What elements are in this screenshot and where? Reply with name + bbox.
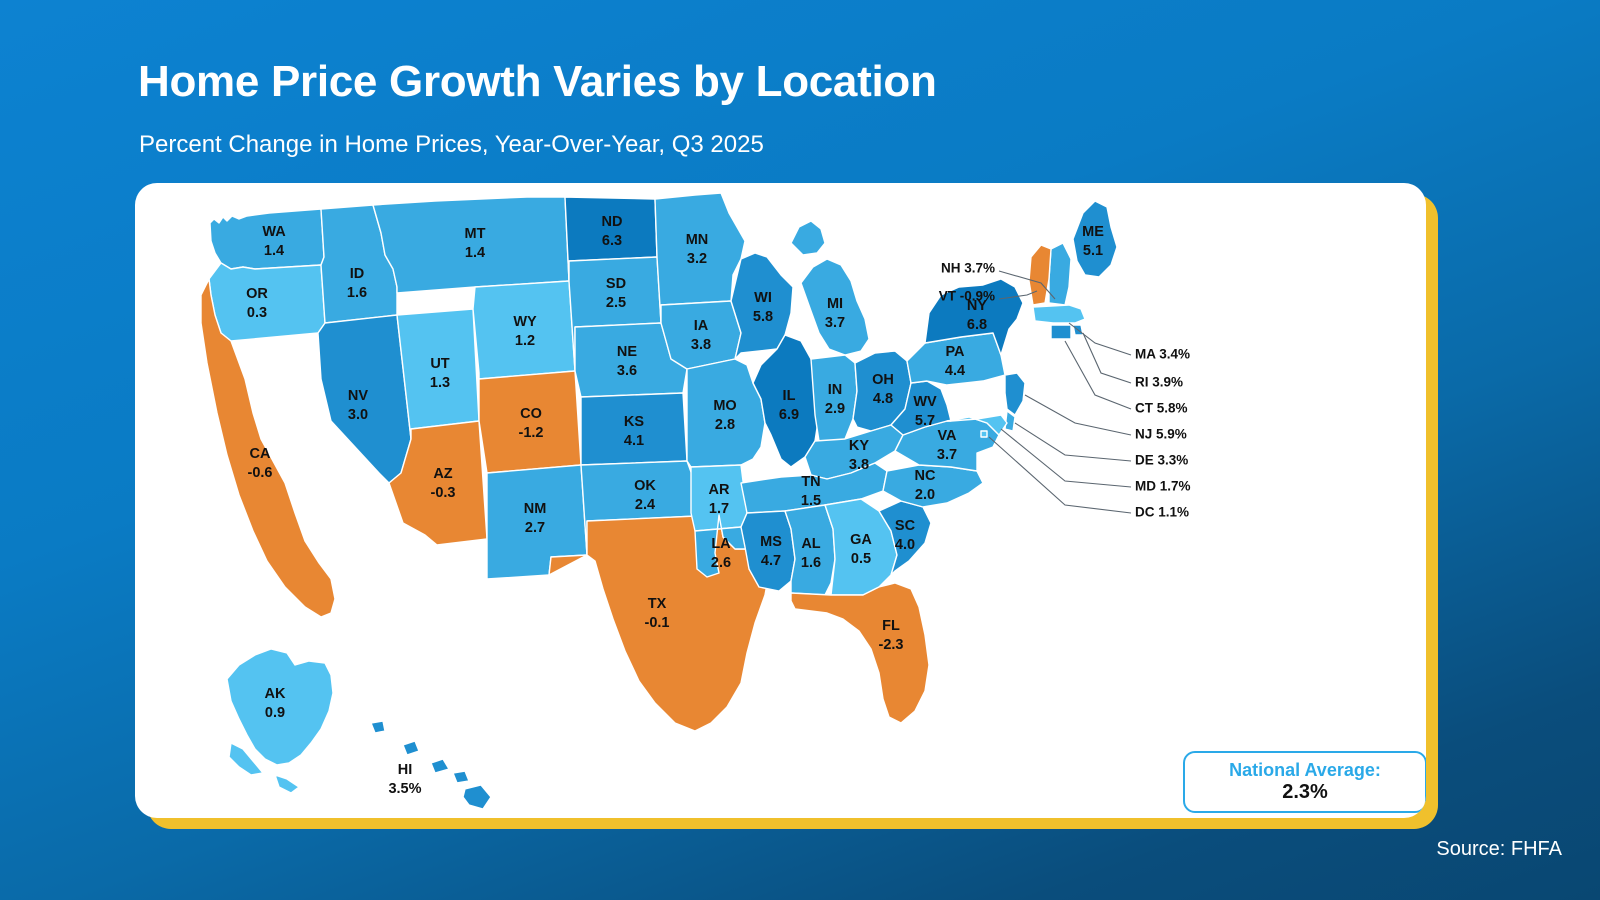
state-value-wy: 1.2	[515, 333, 535, 349]
state-label-pa: PA	[945, 344, 965, 360]
state-label-la: LA	[711, 536, 731, 552]
state-ma[interactable]	[1033, 305, 1085, 323]
state-value-ne: 3.6	[617, 363, 637, 379]
state-label-ks: KS	[624, 414, 644, 430]
state-value-mn: 3.2	[687, 251, 707, 267]
state-label-ak: AK	[265, 686, 286, 702]
state-mi[interactable]	[791, 221, 869, 355]
leader-line-md	[1001, 429, 1131, 487]
state-value-hi: 3.5%	[388, 781, 421, 797]
callout-label-md: MD 1.7%	[1135, 479, 1191, 494]
state-value-fl: -2.3	[879, 637, 904, 653]
us-map-svg[interactable]: WA1.4OR0.3CA-0.6ID1.6NV3.0UT1.3AZ-0.3MT1…	[135, 183, 1426, 818]
callout-label-dc: DC 1.1%	[1135, 505, 1189, 520]
state-value-la: 2.6	[711, 555, 731, 571]
state-vt[interactable]	[1029, 245, 1051, 305]
state-value-ms: 4.7	[761, 553, 781, 569]
state-value-mt: 1.4	[465, 245, 485, 261]
state-value-al: 1.6	[801, 555, 821, 571]
state-wy[interactable]	[473, 281, 575, 379]
state-value-ny: 6.8	[967, 317, 987, 333]
page-title: Home Price Growth Varies by Location	[138, 57, 937, 107]
callout-label-de: DE 3.3%	[1135, 453, 1188, 468]
state-label-ky: KY	[849, 438, 869, 454]
callout-label-nh: NH 3.7%	[941, 261, 995, 276]
state-label-az: AZ	[433, 466, 452, 482]
national-average-value: 2.3%	[1282, 781, 1328, 804]
state-label-fl: FL	[882, 618, 900, 634]
state-value-co: -1.2	[519, 425, 544, 441]
state-nj[interactable]	[1005, 373, 1025, 415]
state-value-nv: 3.0	[348, 407, 368, 423]
state-shapes-group	[201, 193, 1117, 809]
leader-line-ri	[1083, 333, 1131, 383]
state-value-az: -0.3	[431, 485, 456, 501]
state-value-mi: 3.7	[825, 315, 845, 331]
state-label-ia: IA	[694, 318, 709, 334]
callout-label-nj: NJ 5.9%	[1135, 427, 1187, 442]
state-label-mt: MT	[465, 226, 486, 242]
state-label-ne: NE	[617, 344, 637, 360]
state-value-ga: 0.5	[851, 551, 871, 567]
state-label-mi: MI	[827, 296, 843, 312]
state-value-ok: 2.4	[635, 497, 655, 513]
state-label-sc: SC	[895, 518, 916, 534]
state-label-ms: MS	[760, 534, 782, 550]
leader-line-de	[1015, 423, 1131, 461]
callout-label-ma: MA 3.4%	[1135, 347, 1190, 362]
state-label-nv: NV	[348, 388, 368, 404]
state-label-nm: NM	[524, 501, 547, 517]
state-label-wi: WI	[754, 290, 772, 306]
state-value-va: 3.7	[937, 447, 957, 463]
state-label-nc: NC	[915, 468, 936, 484]
state-label-ca: CA	[250, 446, 271, 462]
state-value-nm: 2.7	[525, 520, 545, 536]
callout-label-ri: RI 3.9%	[1135, 375, 1183, 390]
state-value-me: 5.1	[1083, 243, 1103, 259]
state-value-il: 6.9	[779, 407, 799, 423]
state-label-ok: OK	[634, 478, 656, 494]
state-value-id: 1.6	[347, 285, 367, 301]
state-ct[interactable]	[1051, 325, 1071, 339]
state-label-or: OR	[246, 286, 268, 302]
leader-line-nj	[1025, 395, 1131, 435]
state-value-pa: 4.4	[945, 363, 965, 379]
state-value-nc: 2.0	[915, 487, 935, 503]
state-label-il: IL	[783, 388, 796, 404]
state-label-mo: MO	[713, 398, 736, 414]
state-label-oh: OH	[872, 372, 894, 388]
state-label-tn: TN	[801, 474, 820, 490]
source-attribution: Source: FHFA	[1436, 838, 1562, 861]
state-value-tn: 1.5	[801, 493, 821, 509]
state-label-co: CO	[520, 406, 542, 422]
state-label-ar: AR	[709, 482, 730, 498]
map-card: WA1.4OR0.3CA-0.6ID1.6NV3.0UT1.3AZ-0.3MT1…	[135, 183, 1426, 818]
state-label-al: AL	[801, 536, 820, 552]
state-value-ar: 1.7	[709, 501, 729, 517]
state-co[interactable]	[479, 371, 581, 473]
state-value-tx: -0.1	[645, 615, 670, 631]
state-value-sd: 2.5	[606, 295, 626, 311]
leader-line-dc	[989, 437, 1131, 513]
state-label-ut: UT	[430, 356, 449, 372]
state-value-ky: 3.8	[849, 457, 869, 473]
state-value-nd: 6.3	[602, 233, 622, 249]
state-label-nd: ND	[602, 214, 623, 230]
state-ak[interactable]	[227, 649, 333, 793]
state-label-me: ME	[1082, 224, 1104, 240]
state-label-wa: WA	[262, 224, 286, 240]
state-value-wa: 1.4	[264, 243, 284, 259]
page-subtitle: Percent Change in Home Prices, Year-Over…	[139, 131, 764, 159]
state-label-wy: WY	[513, 314, 537, 330]
state-label-va: VA	[937, 428, 957, 444]
state-value-oh: 4.8	[873, 391, 893, 407]
state-label-wv: WV	[913, 394, 937, 410]
state-label-sd: SD	[606, 276, 626, 292]
state-value-wv: 5.7	[915, 413, 935, 429]
state-label-mn: MN	[686, 232, 709, 248]
state-value-in: 2.9	[825, 401, 845, 417]
state-label-id: ID	[350, 266, 365, 282]
state-dc[interactable]	[981, 431, 987, 437]
state-value-wi: 5.8	[753, 309, 773, 325]
state-ia[interactable]	[661, 301, 741, 369]
state-value-ia: 3.8	[691, 337, 711, 353]
state-value-ca: -0.6	[248, 465, 273, 481]
state-value-mo: 2.8	[715, 417, 735, 433]
callout-label-ct: CT 5.8%	[1135, 401, 1188, 416]
state-fl[interactable]	[791, 583, 929, 723]
state-value-ks: 4.1	[624, 433, 644, 449]
national-average-badge: National Average: 2.3%	[1183, 751, 1426, 813]
state-value-ak: 0.9	[265, 705, 285, 721]
state-label-ga: GA	[850, 532, 872, 548]
national-average-label: National Average:	[1229, 760, 1381, 781]
state-value-ut: 1.3	[430, 375, 450, 391]
infographic-root: Home Price Growth Varies by Location Per…	[0, 0, 1600, 900]
state-value-sc: 4.0	[895, 537, 915, 553]
state-label-in: IN	[828, 382, 843, 398]
state-label-tx: TX	[648, 596, 667, 612]
state-or[interactable]	[209, 263, 325, 341]
state-value-or: 0.3	[247, 305, 267, 321]
choropleth-map[interactable]: WA1.4OR0.3CA-0.6ID1.6NV3.0UT1.3AZ-0.3MT1…	[135, 183, 1426, 818]
state-label-hi: HI	[398, 762, 413, 778]
callout-label-vt: VT -0.9%	[939, 289, 995, 304]
